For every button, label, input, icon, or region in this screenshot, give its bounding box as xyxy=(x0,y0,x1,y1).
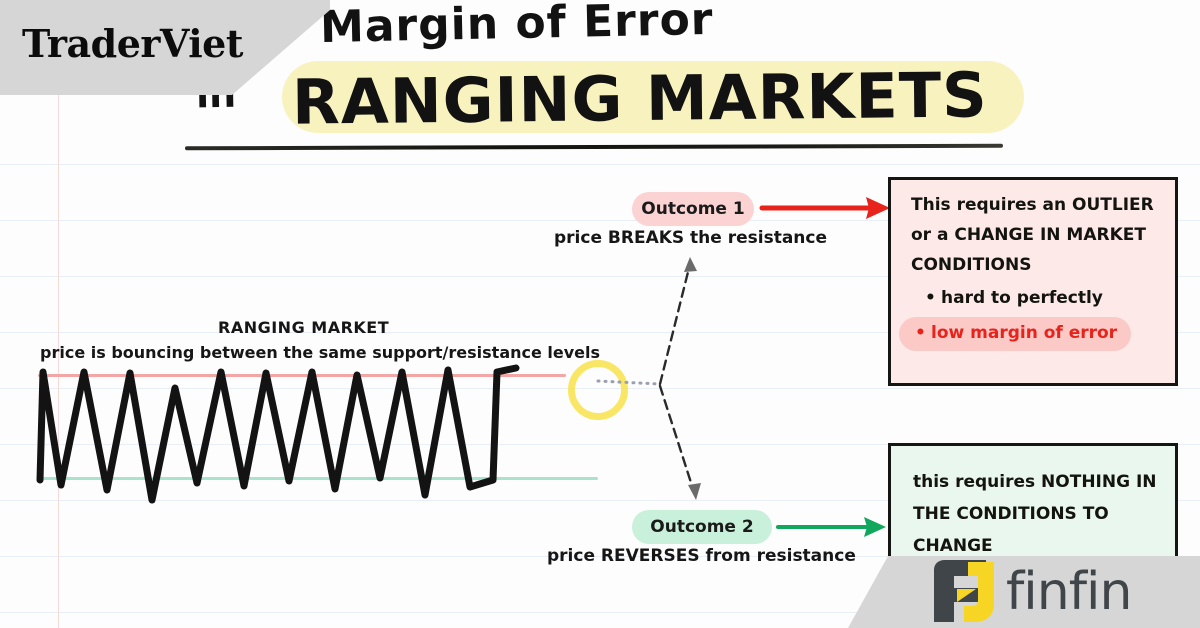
traderviet-watermark-label: TraderViet xyxy=(22,21,243,66)
outcome-1-card-body: This requires an OUTLIER or a CHANGE IN … xyxy=(911,190,1165,351)
outcome-2-card-line-1: this requires NOTHING IN xyxy=(913,466,1165,498)
outcome-2-caption: price REVERSES from resistance xyxy=(547,546,856,566)
list-item: hard to perfectly xyxy=(941,284,1165,313)
outcome-1-card-line-1: This requires an OUTLIER xyxy=(911,190,1165,220)
outcome-1-bullet-2-item: low margin of error xyxy=(931,319,1117,348)
outcome-1-bullet-2: low margin of error xyxy=(931,323,1117,343)
screenshot-canvas: Margin of Error in RANGING MARKETS RANGI… xyxy=(0,0,1200,628)
outcome-1-pill-label: Outcome 1 xyxy=(641,199,744,219)
outcome-1-card-line-3: CONDITIONS xyxy=(911,250,1165,280)
finfin-wordmark: finfin xyxy=(1006,562,1131,622)
outcome-2-card-body: this requires NOTHING IN THE CONDITIONS … xyxy=(913,466,1165,562)
outcome-1-bullet-1: hard to perfectly xyxy=(941,288,1103,308)
outcome-1-caption: price BREAKS the resistance xyxy=(554,228,827,248)
outcome-2-pill-label: Outcome 2 xyxy=(650,517,753,537)
outcome-2-card-line-2: THE CONDITIONS TO xyxy=(913,498,1165,530)
outcome-2-pill[interactable]: Outcome 2 xyxy=(632,510,772,544)
low-margin-highlight: low margin of error xyxy=(899,317,1131,351)
outcome-1-card-line-2: or a CHANGE IN MARKET xyxy=(911,220,1165,250)
outcome-1-bullet-list: hard to perfectly execute xyxy=(911,284,1165,313)
finfin-mark-icon xyxy=(928,558,1008,624)
outcome-1-pill[interactable]: Outcome 1 xyxy=(632,192,754,226)
outcome-1-card: This requires an OUTLIER or a CHANGE IN … xyxy=(888,177,1178,386)
